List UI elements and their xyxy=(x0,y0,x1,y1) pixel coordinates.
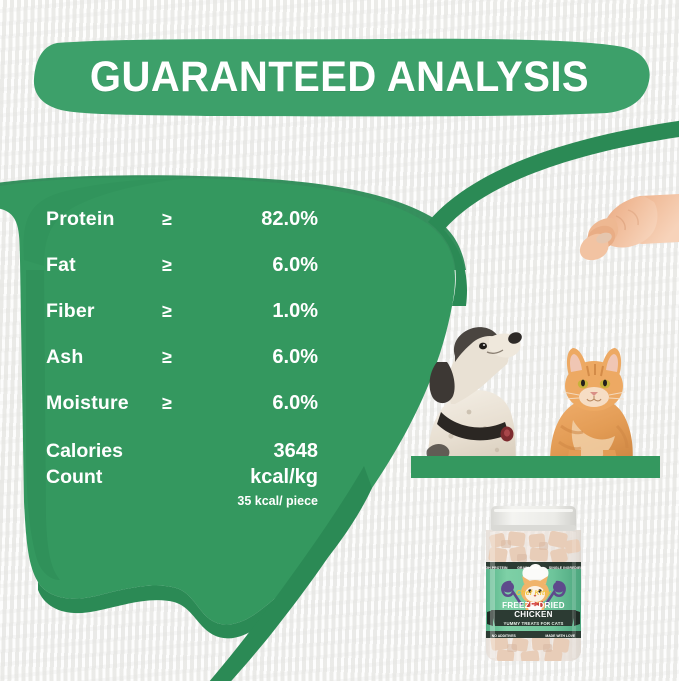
nutrient-label: Fiber xyxy=(46,300,95,323)
jar-bottom-claims: NO ADDITIVES MADE WITH LOVE xyxy=(477,634,590,638)
operator-symbol: ≥ xyxy=(162,301,172,322)
jar-top-claims: HIGH PROTEIN GRAIN FREE SINGLE INGREDIEN… xyxy=(477,566,590,570)
jar-claim: GRAIN FREE xyxy=(517,566,539,570)
table-row: Fat ≥ 6.0% xyxy=(46,254,318,300)
nutrient-label: Fat xyxy=(46,254,76,277)
jar-claim: SINGLE INGREDIENT xyxy=(549,566,585,570)
operator-symbol: ≥ xyxy=(162,255,172,276)
operator-symbol: ≥ xyxy=(162,209,172,230)
nutrient-label: Moisture xyxy=(46,392,129,415)
nutrient-value: 6.0% xyxy=(272,254,318,277)
calories-per-piece-note: 35 kcal/ piece xyxy=(237,494,318,508)
jar-claim: HIGH PROTEIN xyxy=(482,566,508,570)
guaranteed-analysis-infographic: GUARANTEED ANALYSIS Protein ≥ 82.0% xyxy=(0,0,679,681)
product-jar: HIGH PROTEIN GRAIN FREE SINGLE INGREDIEN… xyxy=(477,504,590,663)
page-title: GUARANTEED ANALYSIS xyxy=(49,37,630,117)
table-row: Protein ≥ 82.0% xyxy=(46,208,318,254)
hand-with-treat-photo xyxy=(556,186,679,262)
jar-claim: MADE WITH LOVE xyxy=(545,634,575,638)
jar-claim: NO ADDITIVES xyxy=(492,634,516,638)
nutrient-value: 82.0% xyxy=(261,208,318,231)
calories-label: Calories Count xyxy=(46,438,123,490)
operator-symbol: ≥ xyxy=(162,393,172,414)
guaranteed-analysis-table: Protein ≥ 82.0% Fat ≥ 6.0% Fiber ≥ 1.0% … xyxy=(46,208,318,508)
calories-row: Calories Count 3648 kcal/kg 35 kcal/ pie… xyxy=(46,438,318,508)
nutrient-label: Ash xyxy=(46,346,83,369)
table-row: Moisture ≥ 6.0% xyxy=(46,392,318,438)
nutrient-value: 6.0% xyxy=(272,392,318,415)
operator-symbol: ≥ xyxy=(162,347,172,368)
nutrient-value: 6.0% xyxy=(272,346,318,369)
table-row: Fiber ≥ 1.0% xyxy=(46,300,318,346)
nutrient-value: 1.0% xyxy=(272,300,318,323)
table-row: Ash ≥ 6.0% xyxy=(46,346,318,392)
title-banner: GUARANTEED ANALYSIS xyxy=(27,37,652,117)
nutrient-label: Protein xyxy=(46,208,115,231)
pets-photo xyxy=(411,300,663,478)
calories-value: 3648 kcal/kg xyxy=(250,438,318,490)
pet-platform-bar xyxy=(411,456,660,478)
